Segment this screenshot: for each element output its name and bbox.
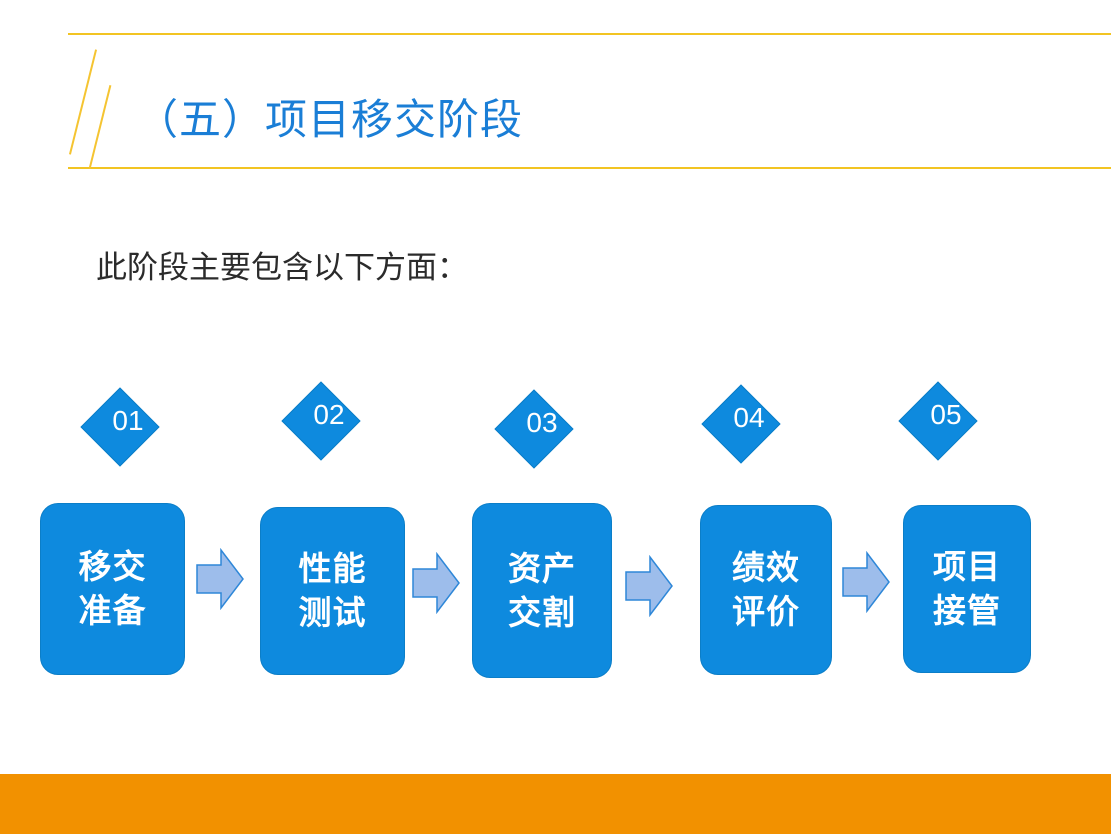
stage-label-5: 项目 接管 xyxy=(933,545,1001,632)
step-number-5: 05 xyxy=(906,401,986,429)
arrow-right-icon xyxy=(842,551,890,613)
arrow-right-icon xyxy=(412,552,460,614)
stage-box-1[interactable]: 移交 准备 xyxy=(40,503,185,675)
step-number-3: 03 xyxy=(502,409,582,437)
flow-arrow-icon-3 xyxy=(625,555,673,617)
stage-label-3: 资产 交割 xyxy=(508,547,576,634)
flow-arrow-icon-2 xyxy=(412,552,460,614)
step-number-1: 01 xyxy=(88,407,168,435)
stage-label-1: 移交 准备 xyxy=(79,545,147,632)
stage-box-4[interactable]: 绩效 评价 xyxy=(700,505,832,675)
stage-label-4: 绩效 评价 xyxy=(732,546,800,633)
slide-canvas: （五）项目移交阶段 此阶段主要包含以下方面： 01 移交 准备 02 性能 测试 xyxy=(0,0,1111,834)
arrow-right-icon xyxy=(196,548,244,610)
step-number-4: 04 xyxy=(709,404,789,432)
flow-arrow-icon-1 xyxy=(196,548,244,610)
arrow-right-icon xyxy=(625,555,673,617)
footer-accent-bar xyxy=(0,774,1111,834)
stage-box-3[interactable]: 资产 交割 xyxy=(472,503,612,678)
stage-label-2: 性能 测试 xyxy=(299,547,367,634)
flow-arrow-icon-4 xyxy=(842,551,890,613)
process-diagram: 01 移交 准备 02 性能 测试 03 xyxy=(0,0,1111,834)
stage-box-2[interactable]: 性能 测试 xyxy=(260,507,405,675)
stage-box-5[interactable]: 项目 接管 xyxy=(903,505,1031,673)
step-number-2: 02 xyxy=(289,401,369,429)
